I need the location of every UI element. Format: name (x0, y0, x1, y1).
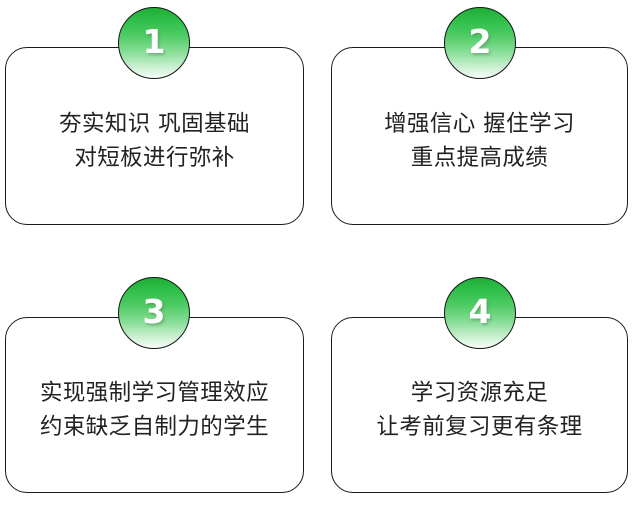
card-1-line-1: 夯实知识 巩固基础 (59, 107, 250, 141)
card-2-line-1: 增强信心 握住学习 (384, 107, 575, 141)
card-2-number-badge: 2 (444, 7, 516, 79)
card-3-line-2: 约束缺乏自制力的学生 (40, 410, 269, 444)
card-4-number-badge: 4 (444, 277, 516, 349)
infographic-canvas: 夯实知识 巩固基础 对短板进行弥补 1 增强信心 握住学习 重点提高成绩 2 实… (0, 0, 633, 505)
card-4-text-block: 学习资源充足 让考前复习更有条理 (332, 366, 627, 444)
card-2-text-block: 增强信心 握住学习 重点提高成绩 (332, 97, 627, 175)
card-3-number-label: 3 (143, 295, 166, 328)
card-4-line-1: 学习资源充足 (411, 376, 548, 410)
card-2-number-label: 2 (469, 25, 492, 58)
card-1-number-label: 1 (143, 25, 166, 58)
card-3-line-1: 实现强制学习管理效应 (40, 376, 269, 410)
card-1-text-block: 夯实知识 巩固基础 对短板进行弥补 (6, 97, 303, 175)
card-3-text-block: 实现强制学习管理效应 约束缺乏自制力的学生 (6, 366, 303, 444)
card-4-number-label: 4 (469, 295, 492, 328)
card-4-line-2: 让考前复习更有条理 (376, 410, 582, 444)
card-2-line-2: 重点提高成绩 (411, 141, 548, 175)
card-1-line-2: 对短板进行弥补 (74, 141, 234, 175)
card-1-number-badge: 1 (118, 7, 190, 79)
card-3-number-badge: 3 (118, 277, 190, 349)
